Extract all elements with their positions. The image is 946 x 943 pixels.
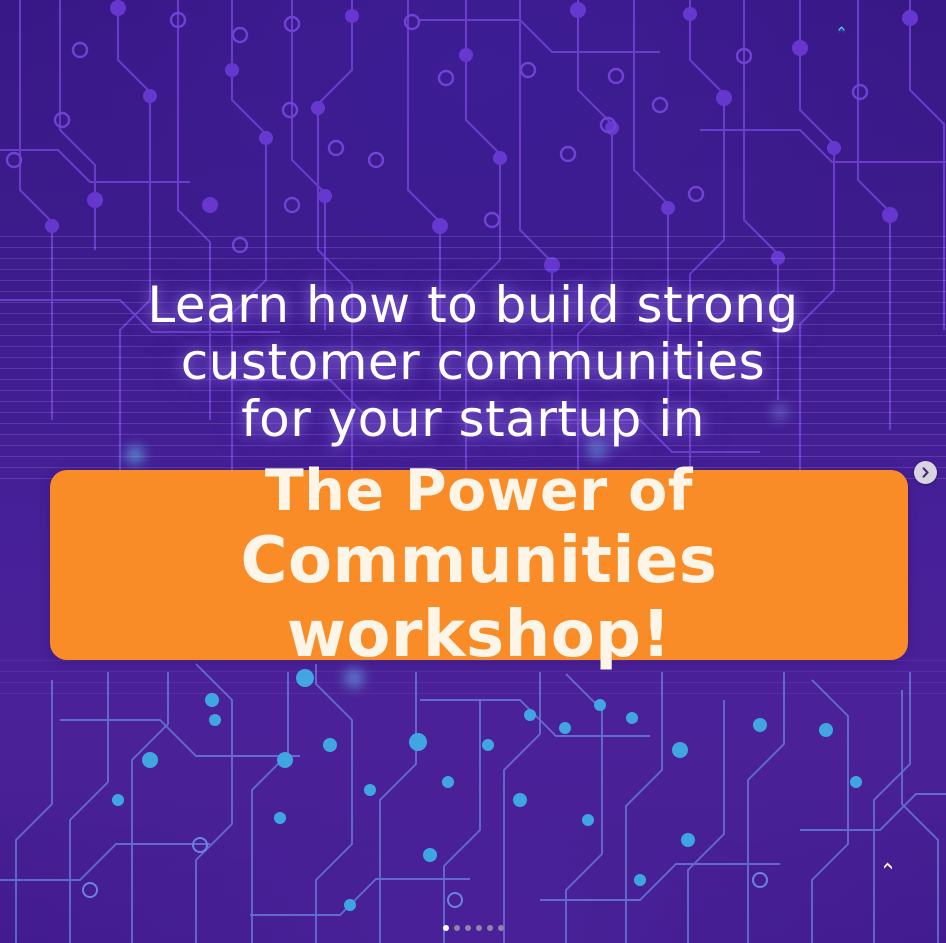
carousel-next-button[interactable] bbox=[914, 461, 937, 484]
carousel-dot-6[interactable] bbox=[498, 925, 504, 931]
carousel-slide: Learn how to build strong customer commu… bbox=[0, 0, 946, 943]
carousel-dot-2[interactable] bbox=[454, 925, 460, 931]
carousel-dot-3[interactable] bbox=[465, 925, 471, 931]
banner-line-2: Communities workshop! bbox=[50, 524, 908, 672]
cyan-halftone-chevron-icon bbox=[838, 26, 918, 112]
carousel-dot-1[interactable] bbox=[443, 925, 449, 931]
headline-line-3: for your startup in bbox=[0, 391, 946, 448]
carousel-dots bbox=[0, 925, 946, 931]
headline-line-1: Learn how to build strong bbox=[0, 277, 946, 334]
pink-halftone-chevron-icon bbox=[0, 42, 76, 252]
headline-line-2: customer communities bbox=[0, 334, 946, 391]
banner-line-1: The Power of bbox=[265, 458, 693, 524]
chevron-right-icon bbox=[920, 467, 931, 478]
carousel-dot-4[interactable] bbox=[476, 925, 482, 931]
workshop-title-banner: The Power of Communities workshop! bbox=[50, 470, 908, 660]
headline: Learn how to build strong customer commu… bbox=[0, 277, 946, 448]
carousel-dot-5[interactable] bbox=[487, 925, 493, 931]
